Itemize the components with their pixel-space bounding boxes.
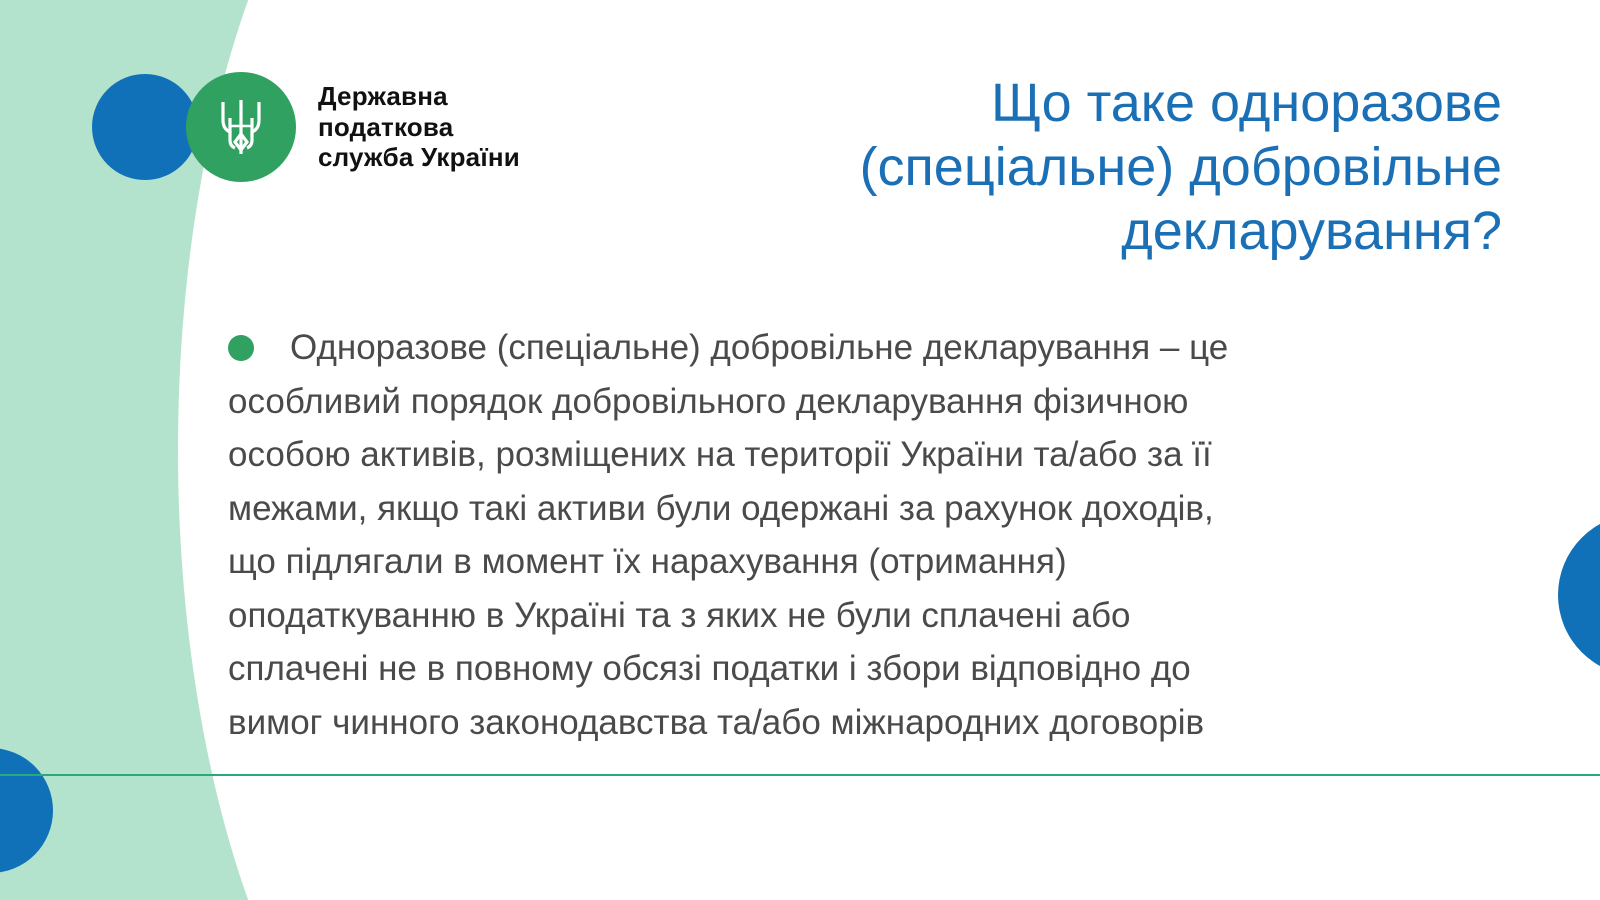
body-line-4: межами, якщо такі активи були одержані з…	[228, 482, 1478, 536]
slide-body: Одноразове (спеціальне) добровільне декл…	[228, 286, 1478, 784]
organization-logo: Державна податкова служба України	[92, 72, 520, 182]
body-line-7: сплачені не в повному обсязі податки і з…	[228, 642, 1478, 696]
body-line-5: що підлягали в момент їх нарахування (от…	[228, 535, 1478, 589]
logo-name-line-3: служба України	[318, 142, 520, 172]
body-line-8: вимог чинного законодавства та/або міжна…	[228, 696, 1478, 750]
organization-name: Державна податкова служба України	[318, 81, 520, 173]
body-line-1: Одноразове (спеціальне) добровільне декл…	[290, 328, 1228, 367]
bullet-paragraph: Одноразове (спеціальне) добровільне декл…	[228, 321, 1478, 749]
title-line-3: декларування?	[1121, 201, 1502, 261]
title-line-1: Що таке одноразове	[991, 73, 1502, 133]
title-line-2: (спеціальне) добровільне	[860, 137, 1502, 197]
slide-title: Що таке одноразове (спеціальне) добровіл…	[602, 72, 1502, 263]
trident-emblem-icon	[186, 72, 296, 182]
decorative-blue-circle-right-edge	[1558, 514, 1600, 676]
logo-blue-circle-icon	[92, 74, 198, 180]
body-line-2: особливий порядок добровільного декларув…	[228, 375, 1478, 429]
body-line-3: особою активів, розміщених на території …	[228, 428, 1478, 482]
logo-name-line-2: податкова	[318, 112, 453, 142]
body-line-6: оподаткуванню в Україні та з яких не бул…	[228, 589, 1478, 643]
green-bullet-icon	[228, 335, 254, 361]
slide-canvas: Державна податкова служба України Що так…	[0, 0, 1600, 900]
logo-name-line-1: Державна	[318, 81, 448, 111]
decorative-blue-circle-bottom-left	[0, 748, 53, 873]
